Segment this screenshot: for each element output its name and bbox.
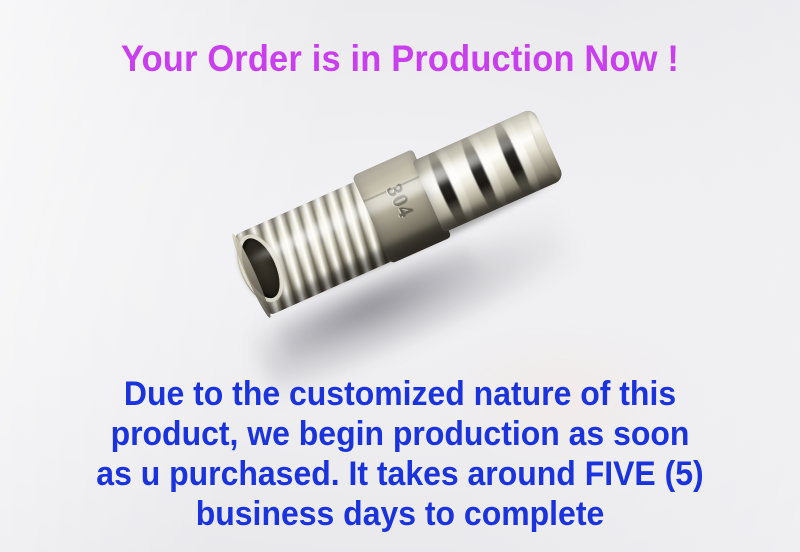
barb-groove (423, 145, 472, 233)
product-contact-shadow (273, 237, 484, 364)
promo-image: Your Order is in Production Now ! 304 (0, 0, 800, 552)
product-drop-shadow (248, 200, 581, 397)
message-line: as u purchased. It takes around FIVE (5) (24, 454, 776, 494)
bore-rim (227, 226, 294, 310)
product-photo: 304 (243, 158, 583, 364)
barb-end-cap (522, 108, 564, 183)
hex-flange: 304 (352, 149, 451, 264)
lower-shading-band (262, 169, 566, 316)
barb-groove (455, 130, 504, 219)
threaded-section (233, 178, 399, 316)
barb-groove (488, 116, 537, 205)
grade-stamp-304: 304 (381, 180, 419, 222)
message-line: product, we begin production as soon (24, 414, 776, 454)
message-line: Due to the customized nature of this (24, 374, 776, 414)
barb-ridge (467, 128, 512, 212)
hex-facet-edge (363, 174, 424, 203)
hex-top-facet (352, 149, 423, 200)
barb-ridge (500, 114, 545, 198)
headline-text: Your Order is in Production Now ! (28, 38, 772, 80)
message-line: business days to complete (24, 494, 776, 534)
hex-shoulder-ring (229, 232, 275, 320)
hose-barb-fitting: 304 (231, 99, 566, 316)
barb-ridge (434, 143, 479, 227)
barbed-section (412, 108, 564, 233)
specular-highlight (242, 123, 546, 269)
message-block: Due to the customized nature of this pro… (24, 374, 776, 534)
bore-opening (234, 233, 287, 304)
